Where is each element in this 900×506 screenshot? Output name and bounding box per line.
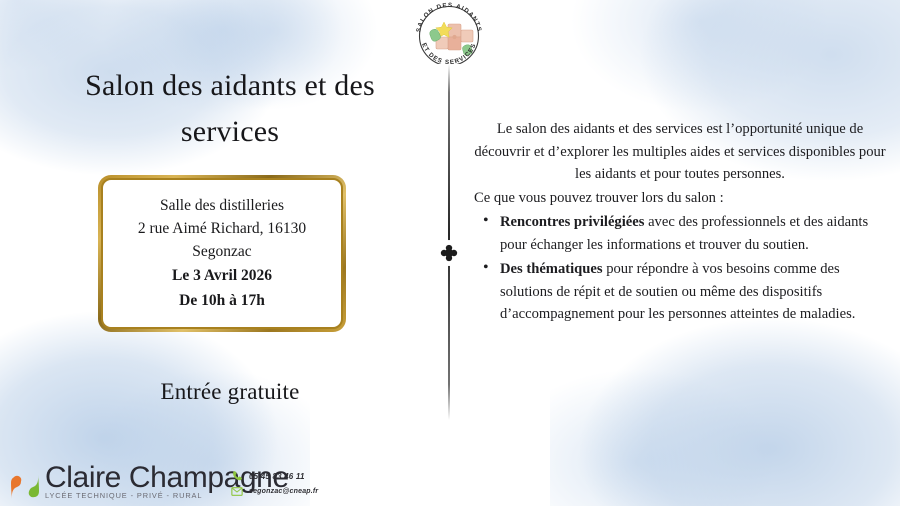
venue-city: Segonzac bbox=[192, 240, 251, 263]
poster-canvas: SALON DES AIDANTS ET DES SERVICES Salon … bbox=[0, 0, 900, 506]
email-address[interactable]: segonzac@cneap.fr bbox=[249, 488, 318, 495]
list-item: Des thématiques pour répondre à vos beso… bbox=[474, 258, 886, 326]
claire-champagne-mark-icon bbox=[8, 471, 42, 501]
contact-block: 05 45 83 46 11 segonzac@cneap.fr bbox=[230, 470, 318, 500]
envelope-icon bbox=[230, 485, 244, 497]
event-date: Le 3 Avril 2026 bbox=[172, 263, 272, 288]
salon-des-aidants-logo-icon: SALON DES AIDANTS ET DES SERVICES bbox=[408, 2, 490, 64]
event-hours: De 10h à 17h bbox=[179, 288, 265, 313]
list-item-strong: Des thématiques bbox=[500, 261, 603, 277]
event-info-box: Salle des distilleries 2 rue Aimé Richar… bbox=[98, 175, 346, 332]
lead-line: Ce que vous pouvez trouver lors du salon… bbox=[474, 187, 886, 210]
watercolor-wash-bottom-right bbox=[550, 306, 900, 506]
list-item-strong: Rencontres privilégiées bbox=[500, 214, 644, 230]
quatrefoil-ornament-icon bbox=[436, 240, 462, 266]
footer: Claire Champagne LYCÉE TECHNIQUE - PRIVÉ… bbox=[0, 460, 360, 506]
page-title: Salon des aidants et des services bbox=[42, 63, 418, 155]
venue-name: Salle des distilleries bbox=[160, 194, 284, 217]
benefits-list: Rencontres privilégiées avec des profess… bbox=[474, 211, 886, 326]
free-entry-text: Entrée gratuite bbox=[42, 379, 418, 405]
phone-row: 05 45 83 46 11 bbox=[230, 470, 318, 482]
list-item: Rencontres privilégiées avec des profess… bbox=[474, 211, 886, 256]
intro-paragraph: Le salon des aidants et des services est… bbox=[474, 118, 886, 186]
description-block: Le salon des aidants et des services est… bbox=[474, 118, 886, 328]
phone-icon bbox=[230, 470, 244, 482]
venue-street: 2 rue Aimé Richard, 16130 bbox=[138, 217, 306, 240]
email-row: segonzac@cneap.fr bbox=[230, 485, 318, 497]
phone-number[interactable]: 05 45 83 46 11 bbox=[249, 472, 305, 481]
